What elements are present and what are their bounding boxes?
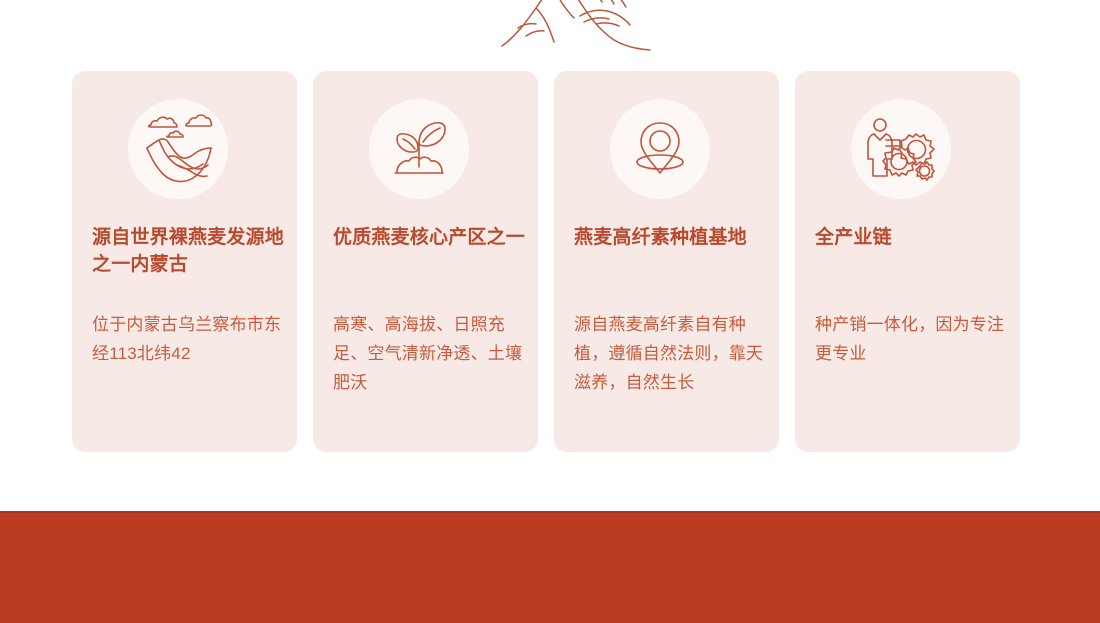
sprout-seedling-icon xyxy=(369,99,469,199)
card-title: 全产业链 xyxy=(815,225,1007,252)
feature-card[interactable]: 燕麦高纤素种植基地 源自燕麦高纤素自有种植，遵循自然法则，靠天滋养，自然生长 xyxy=(554,71,779,452)
card-description: 位于内蒙古乌兰察布市东经113北纬42 xyxy=(92,310,288,368)
worker-gears-icon xyxy=(851,99,951,199)
footer-band-top-divider xyxy=(0,511,1100,513)
mountain-range-sketch-icon xyxy=(496,0,656,52)
mountain-clouds-icon xyxy=(128,99,228,199)
feature-card[interactable]: 全产业链 种产销一体化，因为专注更专业 xyxy=(795,71,1020,452)
card-description: 源自燕麦高纤素自有种植，遵循自然法则，靠天滋养，自然生长 xyxy=(574,310,770,398)
card-title: 优质燕麦核心产区之一 xyxy=(333,225,525,252)
feature-card[interactable]: 优质燕麦核心产区之一 高寒、高海拔、日照充足、空气清新净透、土壤肥沃 xyxy=(313,71,538,452)
footer-accent-band xyxy=(0,511,1100,623)
location-pin-icon xyxy=(610,99,710,199)
card-description: 种产销一体化，因为专注更专业 xyxy=(815,310,1011,368)
card-description: 高寒、高海拔、日照充足、空气清新净透、土壤肥沃 xyxy=(333,310,529,398)
page-root: 源自世界裸燕麦发源地之一内蒙古 位于内蒙古乌兰察布市东经113北纬42 xyxy=(0,0,1100,623)
feature-card-list: 源自世界裸燕麦发源地之一内蒙古 位于内蒙古乌兰察布市东经113北纬42 xyxy=(72,71,1028,452)
feature-card[interactable]: 源自世界裸燕麦发源地之一内蒙古 位于内蒙古乌兰察布市东经113北纬42 xyxy=(72,71,297,452)
card-title: 燕麦高纤素种植基地 xyxy=(574,225,766,252)
card-title: 源自世界裸燕麦发源地之一内蒙古 xyxy=(92,225,284,279)
